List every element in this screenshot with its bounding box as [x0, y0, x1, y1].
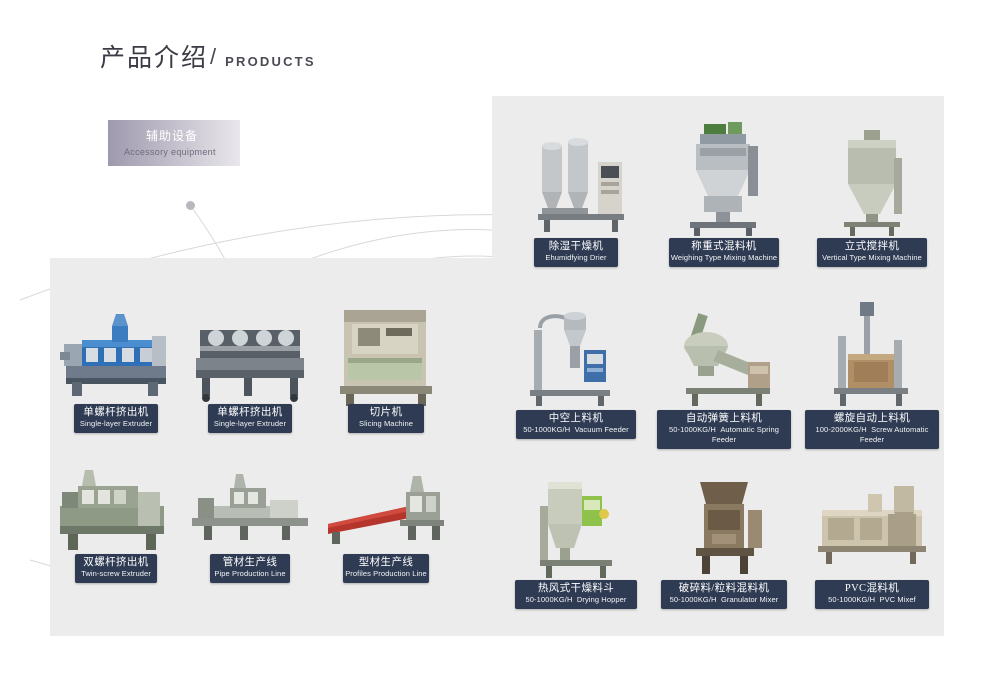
product-cell-twin-screw-extruder[interactable]: 双螺杆挤出机 Twin-screw Extruder	[52, 462, 180, 592]
caption-cn: 双螺杆挤出机	[75, 557, 157, 569]
caption-en: Weighing Type Mixing Machine	[669, 253, 779, 263]
caption-en: Twin-screw Extruder	[75, 569, 157, 579]
caption-vacuum-feeder: 中空上料机 50-1000KG/H Vacuum Feeder	[516, 410, 636, 439]
caption-cn: 称重式混料机	[669, 241, 779, 253]
caption-en: Ehumidfying Drier	[534, 253, 618, 263]
caption-pipe-production-line: 管材生产线 Pipe Production Line	[210, 554, 290, 583]
caption-cn: 螺旋自动上料机	[805, 413, 939, 425]
caption-single-layer-extruder-1: 单螺杆挤出机 Single-layer Extruder	[74, 404, 158, 433]
profiles-production-line-photo	[322, 462, 450, 562]
accessory-tag-en: Accessory equipment	[124, 147, 216, 157]
product-cell-pipe-production-line[interactable]: 管材生产线 Pipe Production Line	[186, 462, 314, 592]
slicing-machine-photo	[322, 300, 450, 412]
caption-en: 50-1000KG/H Drying Hopper	[515, 595, 637, 605]
caption-cn: 型材生产线	[343, 557, 429, 569]
page-title-cn: 产品介绍	[100, 46, 208, 71]
caption-en: Slicing Machine	[348, 419, 424, 429]
caption-cn: 管材生产线	[210, 557, 290, 569]
caption-en: Single-layer Extruder	[208, 419, 292, 429]
pipe-production-line-photo	[186, 462, 314, 562]
single-layer-extruder-photo-1	[52, 300, 180, 412]
caption-granulator-mixer: 破碎料/粒料混料机 50-1000KG/H Granulator Mixer	[661, 580, 787, 609]
caption-cn: 中空上料机	[516, 413, 636, 425]
caption-cn: 自动弹簧上料机	[657, 413, 791, 425]
product-intro-page: 产品介绍 / PRODUCTS 辅助设备 Accessory equipment	[0, 0, 1000, 678]
accessory-tag-cn: 辅助设备	[146, 127, 198, 144]
pvc-mixer-photo	[808, 470, 936, 582]
product-cell-automatic-spring-feeder[interactable]: 自动弹簧上料机 50-1000KG/H Automatic Spring Fee…	[660, 300, 788, 442]
product-cell-dehumidifying-drier[interactable]: 除湿干燥机 Ehumidfying Drier	[512, 128, 640, 270]
caption-en: 100-2000KG/H Screw Automatic Feeder	[805, 425, 939, 445]
caption-cn: 单螺杆挤出机	[74, 407, 158, 419]
caption-en: Single-layer Extruder	[74, 419, 158, 429]
accessory-equipment-tag: 辅助设备 Accessory equipment	[108, 120, 240, 166]
caption-en: Pipe Production Line	[210, 569, 290, 579]
product-cell-vertical-mixing-machine[interactable]: 立式搅拌机 Vertical Type Mixing Machine	[808, 128, 936, 270]
caption-cn: 破碎料/粒料混料机	[661, 583, 787, 595]
product-cell-granulator-mixer[interactable]: 破碎料/粒料混料机 50-1000KG/H Granulator Mixer	[660, 470, 788, 610]
dehumidifying-drier-photo	[512, 128, 640, 240]
caption-en: 50-1000KG/H PVC Mixef	[815, 595, 929, 605]
product-cell-weighing-mixing-machine[interactable]: 称重式混料机 Weighing Type Mixing Machine	[660, 120, 788, 270]
caption-en: Vertical Type Mixing Machine	[817, 253, 927, 263]
caption-profiles-production-line: 型材生产线 Profiles Production Line	[343, 554, 429, 583]
product-cell-pvc-mixer[interactable]: PVC混料机 50-1000KG/H PVC Mixef	[808, 470, 936, 610]
screw-automatic-feeder-photo	[808, 296, 936, 412]
product-cell-single-layer-extruder-2[interactable]: 单螺杆挤出机 Single-layer Extruder	[186, 300, 314, 445]
caption-pvc-mixer: PVC混料机 50-1000KG/H PVC Mixef	[815, 580, 929, 609]
title-slash: /	[210, 44, 216, 70]
caption-cn: 立式搅拌机	[817, 241, 927, 253]
caption-en: 50-1000KG/H Granulator Mixer	[661, 595, 787, 605]
vertical-mixing-machine-photo	[808, 128, 936, 240]
caption-cn: 除湿干燥机	[534, 241, 618, 253]
caption-dehumidifying-drier: 除湿干燥机 Ehumidfying Drier	[534, 238, 618, 267]
product-cell-screw-automatic-feeder[interactable]: 螺旋自动上料机 100-2000KG/H Screw Automatic Fee…	[808, 296, 936, 442]
caption-en: Profiles Production Line	[343, 569, 429, 579]
page-title: 产品介绍 / PRODUCTS	[100, 44, 316, 71]
caption-cn: 热风式干燥料斗	[515, 583, 637, 595]
weighing-mixing-machine-photo	[660, 120, 788, 238]
caption-vertical-mixing-machine: 立式搅拌机 Vertical Type Mixing Machine	[817, 238, 927, 267]
granulator-mixer-photo	[660, 470, 788, 582]
caption-cn: 单螺杆挤出机	[208, 407, 292, 419]
caption-en: 50-1000KG/H Vacuum Feeder	[516, 425, 636, 435]
caption-cn: 切片机	[348, 407, 424, 419]
drying-hopper-photo	[512, 470, 640, 582]
caption-single-layer-extruder-2: 单螺杆挤出机 Single-layer Extruder	[208, 404, 292, 433]
vacuum-feeder-photo	[512, 300, 640, 412]
connector-dot	[186, 201, 195, 210]
product-cell-slicing-machine[interactable]: 切片机 Slicing Machine	[322, 300, 450, 445]
automatic-spring-feeder-photo	[660, 300, 788, 412]
caption-slicing-machine: 切片机 Slicing Machine	[348, 404, 424, 433]
product-cell-vacuum-feeder[interactable]: 中空上料机 50-1000KG/H Vacuum Feeder	[512, 300, 640, 442]
twin-screw-extruder-photo	[52, 462, 180, 562]
single-layer-extruder-photo-2	[186, 300, 314, 412]
caption-drying-hopper: 热风式干燥料斗 50-1000KG/H Drying Hopper	[515, 580, 637, 609]
caption-cn: PVC混料机	[815, 583, 929, 595]
page-title-en: PRODUCTS	[225, 54, 316, 71]
caption-automatic-spring-feeder: 自动弹簧上料机 50-1000KG/H Automatic Spring Fee…	[657, 410, 791, 449]
product-cell-drying-hopper[interactable]: 热风式干燥料斗 50-1000KG/H Drying Hopper	[512, 470, 640, 610]
caption-screw-automatic-feeder: 螺旋自动上料机 100-2000KG/H Screw Automatic Fee…	[805, 410, 939, 449]
product-cell-single-layer-extruder-1[interactable]: 单螺杆挤出机 Single-layer Extruder	[52, 300, 180, 445]
caption-twin-screw-extruder: 双螺杆挤出机 Twin-screw Extruder	[75, 554, 157, 583]
caption-weighing-mixing-machine: 称重式混料机 Weighing Type Mixing Machine	[669, 238, 779, 267]
caption-en: 50-1000KG/H Automatic Spring Feeder	[657, 425, 791, 445]
product-cell-profiles-production-line[interactable]: 型材生产线 Profiles Production Line	[322, 462, 450, 592]
